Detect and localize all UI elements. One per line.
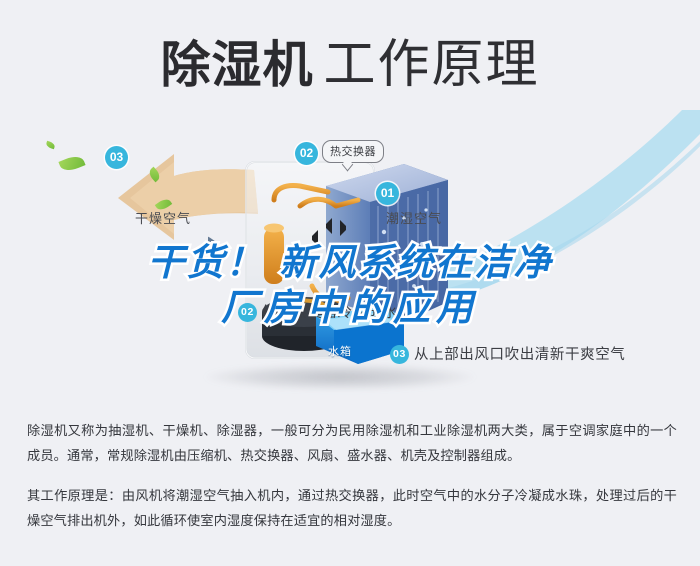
caption-text-03: 从上部出风口吹出清新干爽空气 xyxy=(414,347,625,363)
page-title-part1: 除湿机 xyxy=(160,36,313,94)
page-title-part2: 工作原理 xyxy=(323,36,539,94)
callout-heat-exchanger: 热交换器 xyxy=(322,140,384,163)
label-dry-air: 干燥空气 xyxy=(135,208,191,227)
page-title: 除湿机工作原理 xyxy=(0,22,700,97)
caption-badge-03: 03 xyxy=(390,345,409,364)
body-copy: 除湿机又称为抽湿机、干燥机、除湿器，一般可分为民用除湿机和工业除湿机两大类，属于… xyxy=(27,418,677,533)
water-tank-label: 水箱 xyxy=(328,343,352,359)
overlay-headline: 干货！ 新风系统在洁净 厂房中的应用 xyxy=(0,240,700,330)
badge-step-01: 01 xyxy=(376,182,399,205)
caption-step-03: 03从上部出风口吹出清新干爽空气 xyxy=(390,343,625,364)
badge-step-02: 02 xyxy=(295,142,318,165)
leaf-icon xyxy=(45,141,55,149)
overlay-headline-line1: 干货！ 新风系统在洁净 xyxy=(0,240,700,285)
label-moist-air: 潮湿空气 xyxy=(386,208,442,227)
body-paragraph-2: 其工作原理是：由风机将潮湿空气抽入机内，通过热交换器，此时空气中的水分子冷凝成水… xyxy=(27,483,677,533)
body-paragraph-1: 除湿机又称为抽湿机、干燥机、除湿器，一般可分为民用除湿机和工业除湿机两大类，属于… xyxy=(27,418,677,468)
overlay-headline-line2: 厂房中的应用 xyxy=(0,285,700,330)
badge-step-03: 03 xyxy=(105,146,128,169)
